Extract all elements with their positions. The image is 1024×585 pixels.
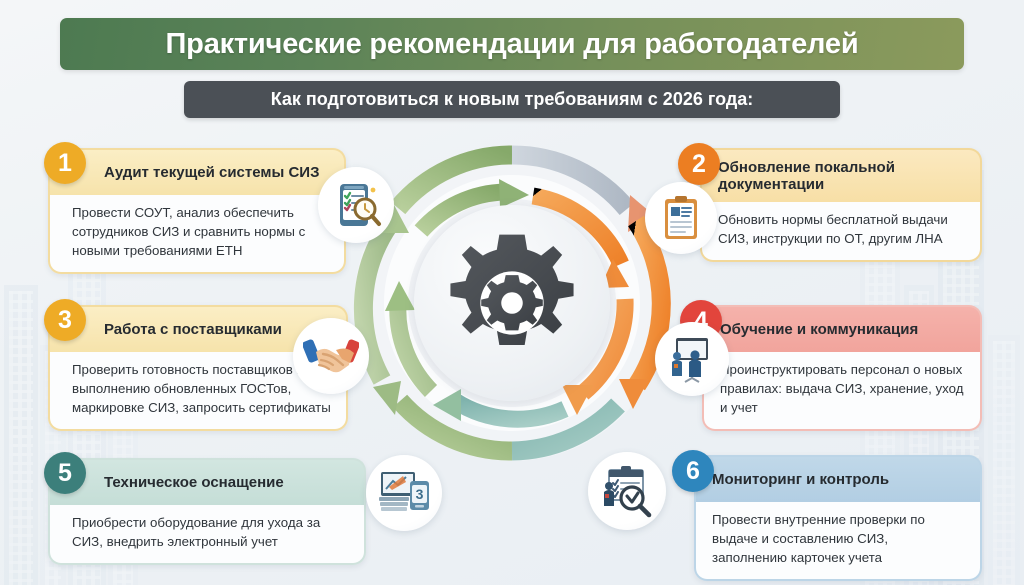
- checklist-tablet-magnifier-icon: [318, 167, 394, 243]
- step-header-2: Обновление покальной документации: [700, 148, 982, 202]
- step-title-3: Работа с поставщиками: [104, 321, 282, 338]
- step-title-5: Техническое оснащение: [104, 474, 284, 491]
- gear-icon: [436, 227, 588, 379]
- step-header-1: Аудит текущей системы СИЗ: [48, 148, 346, 195]
- gear-icon-container: [414, 205, 610, 401]
- step-number-1: 1: [44, 142, 86, 184]
- header-banner: Практические рекомендации для работодате…: [60, 18, 964, 70]
- step-card-4[interactable]: 4 Обучение и коммуникация Проинструктиро…: [702, 305, 982, 431]
- step-header-5: Техническое оснащение: [48, 458, 366, 505]
- step-header-6: Мониторинг и контроль: [694, 455, 982, 502]
- step-title-6: Мониторинг и контроль: [712, 471, 889, 488]
- central-cycle-wheel: [337, 133, 687, 473]
- step-body-6: Провести внутренние проверки по выдаче и…: [694, 502, 982, 581]
- clipboard-document-icon: [645, 182, 717, 254]
- step-card-5[interactable]: 5 Техническое оснащение Приобрести обору…: [48, 458, 366, 565]
- clipboard-magnifier-icon: [588, 452, 666, 530]
- step-body-5: Приобрести оборудование для ухода за СИЗ…: [48, 505, 366, 565]
- step-header-4: Обучение и коммуникация: [702, 305, 982, 352]
- step-card-2[interactable]: 2 Обновление покальной документации Обно…: [700, 148, 982, 262]
- step-body-4: Проинструктировать персонал о новых прав…: [702, 352, 982, 431]
- step-title-2: Обновление покальной документации: [718, 159, 966, 194]
- step-body-1: Провести СОУТ, анализ обеспечить сотрудн…: [48, 195, 346, 274]
- svg-text:3: 3: [416, 486, 424, 502]
- step-card-1[interactable]: 1 Аудит текущей системы СИЗ Провести СОУ…: [48, 148, 346, 274]
- page-subtitle: Как подготовиться к новым требованиям с …: [271, 89, 754, 110]
- step-number-2: 2: [678, 143, 720, 185]
- step-number-6: 6: [672, 450, 714, 492]
- infographic-canvas: Практические рекомендации для работодате…: [0, 0, 1024, 585]
- training-presentation-icon: [655, 322, 729, 396]
- step-title-1: Аудит текущей системы СИЗ: [104, 164, 319, 181]
- handshake-icon: [293, 318, 369, 394]
- step-number-5: 5: [44, 452, 86, 494]
- monitor-documents-icon: 3: [366, 455, 442, 531]
- step-number-3: 3: [44, 299, 86, 341]
- subtitle-banner: Как подготовиться к новым требованиям с …: [184, 81, 840, 118]
- step-body-2: Обновить нормы бесплатной выдачи СИЗ, ин…: [700, 202, 982, 262]
- page-title: Практические рекомендации для работодате…: [166, 28, 859, 61]
- step-title-4: Обучение и коммуникация: [720, 321, 918, 338]
- step-card-6[interactable]: 6 Мониторинг и контроль Провести внутрен…: [694, 455, 982, 581]
